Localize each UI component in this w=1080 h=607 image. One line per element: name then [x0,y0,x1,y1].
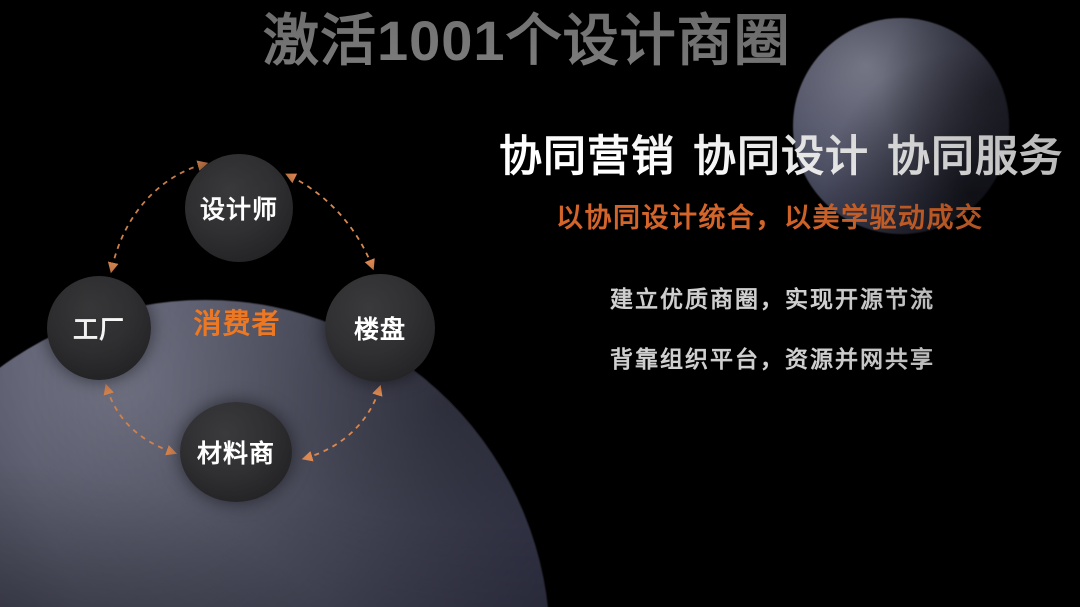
diagram-node-material-label: 材料商 [197,434,275,470]
diagram-node-material[interactable]: 材料商 [180,402,292,502]
diagram-node-factory-label: 工厂 [73,310,125,346]
headline-part-3: 协同服务 [887,133,1063,181]
body-line-2: 背靠组织平台，资源并网共享 [610,340,935,374]
diagram-node-property-label: 楼盘 [354,310,406,346]
ecosystem-diagram: 设计师 工厂 楼盘 材料商 消费者 [0,0,520,607]
connector-material-factory [107,388,172,452]
diagram-center-label: 消费者 [173,302,301,342]
connector-designer-property [290,176,372,266]
subheadline: 以协同设计统合，以美学驱动成交 [556,196,984,235]
headline-part-1: 协同营销 [499,133,675,181]
headline-part-2: 协同设计 [693,133,869,181]
diagram-node-factory[interactable]: 工厂 [47,276,151,380]
headline: 协同营销协同设计协同服务 [499,122,1063,184]
body-line-1: 建立优质商圈，实现开源节流 [610,280,935,314]
diagram-node-property[interactable]: 楼盘 [325,274,435,382]
diagram-node-designer-label: 设计师 [200,190,278,226]
slide-canvas: 激活1001个设计商圈 协同营销协同设计协同服务 以协同设计统合，以美学驱动成交… [0,0,1080,607]
diagram-node-designer[interactable]: 设计师 [185,154,293,262]
connector-property-material [306,390,379,458]
